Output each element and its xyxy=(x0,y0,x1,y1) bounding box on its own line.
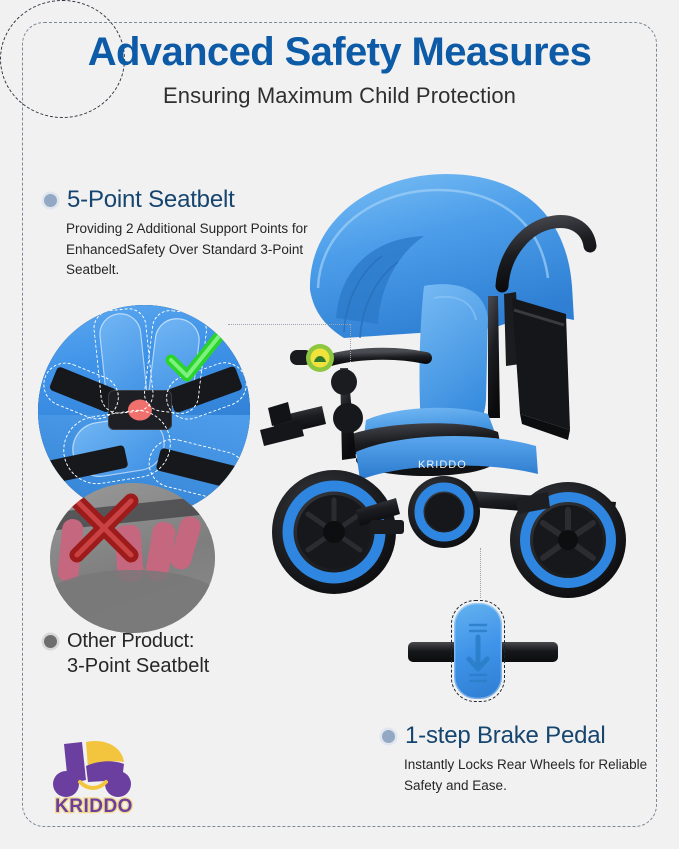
frame-brand-text: KRIDDO xyxy=(418,459,467,471)
feature-seatbelt: 5-Point Seatbelt Providing 2 Additional … xyxy=(44,186,344,281)
kriddo-logo-mark xyxy=(38,738,150,800)
other-product-closeup-circle xyxy=(50,483,215,633)
header-block: Advanced Safety Measures Ensuring Maximu… xyxy=(22,30,657,109)
feature-other-head: Other Product: xyxy=(44,630,304,653)
bell-icon xyxy=(306,344,334,372)
seat-frame-bar xyxy=(488,296,500,418)
down-arrow-icon xyxy=(465,619,491,683)
bullet-dot-grey-icon xyxy=(44,635,57,648)
infographic-root: Advanced Safety Measures Ensuring Maximu… xyxy=(0,0,679,849)
grey-seat-shell xyxy=(50,570,215,633)
logo-wheel-right xyxy=(105,771,131,797)
page-subtitle: Ensuring Maximum Child Protection xyxy=(22,83,657,109)
feature-other-title: Other Product: xyxy=(67,630,194,653)
feature-other-product: Other Product: 3-Point Seatbelt xyxy=(44,630,304,678)
connector-seatbelt-vertical xyxy=(350,324,351,362)
brake-pedal-assembly xyxy=(408,625,558,680)
logo-wheel-left xyxy=(53,771,79,797)
feature-seatbelt-head: 5-Point Seatbelt xyxy=(44,186,344,214)
green-check-icon xyxy=(163,326,227,390)
bullet-dot-icon xyxy=(44,194,57,207)
bullet-dot-icon xyxy=(382,730,395,743)
mid-wheel xyxy=(408,476,480,548)
handlebar xyxy=(318,354,426,364)
connector-brake-vertical xyxy=(480,548,481,598)
feature-seatbelt-body: Providing 2 Additional Support Points fo… xyxy=(66,219,344,281)
logo-wordmark: KRIDDO xyxy=(38,796,150,818)
page-title: Advanced Safety Measures xyxy=(22,30,657,75)
feature-brake-title: 1-step Brake Pedal xyxy=(405,722,606,750)
brake-pedal-pad xyxy=(454,603,502,699)
feature-brake-head: 1-step Brake Pedal xyxy=(382,722,662,750)
connector-seatbelt-to-product xyxy=(228,324,350,325)
kriddo-logo: KRIDDO xyxy=(38,738,150,818)
feature-seatbelt-title: 5-Point Seatbelt xyxy=(67,186,235,214)
feature-other-subtitle: 3-Point Seatbelt xyxy=(67,655,304,678)
feature-brake-pedal: 1-step Brake Pedal Instantly Locks Rear … xyxy=(382,722,662,796)
feature-brake-body: Instantly Locks Rear Wheels for Reliable… xyxy=(404,755,662,796)
red-x-icon xyxy=(65,489,143,567)
logo-smile xyxy=(80,782,106,788)
